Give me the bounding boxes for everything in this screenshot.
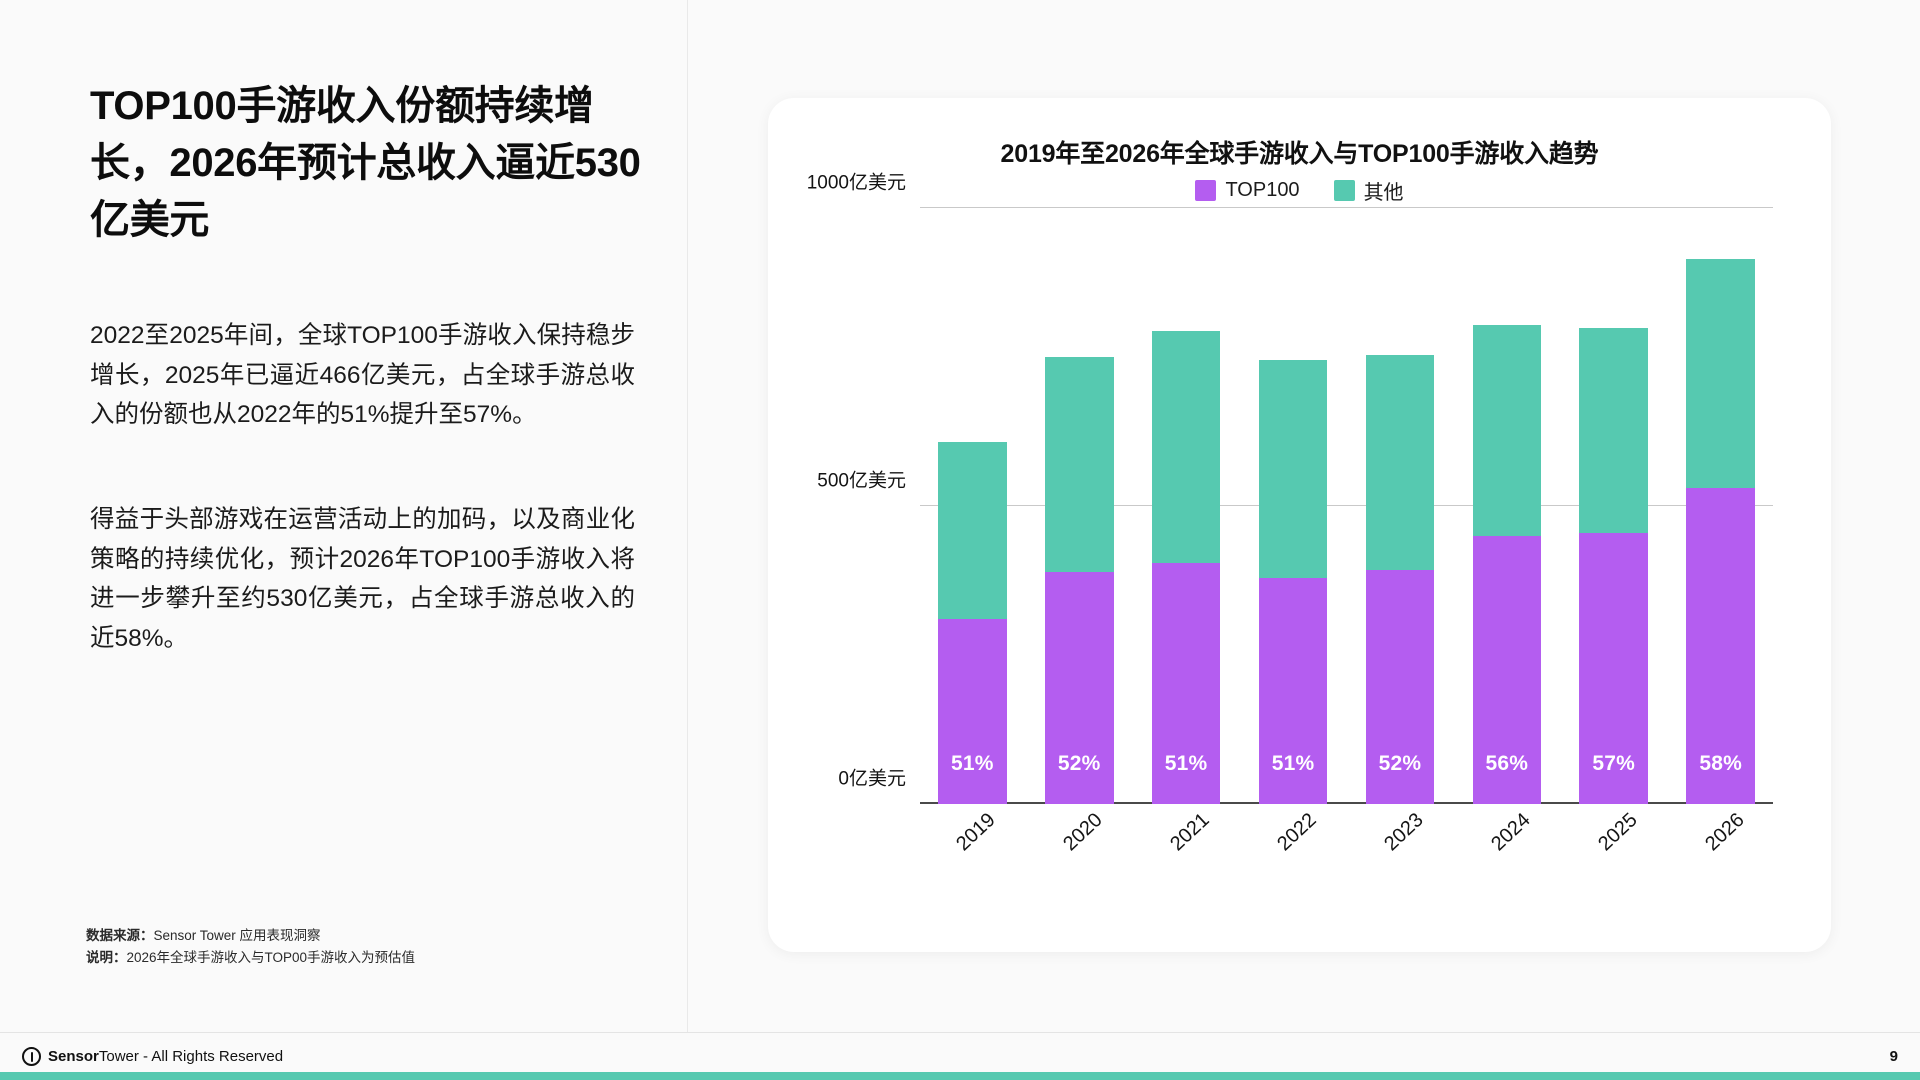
- bar-segment-top100[interactable]: 57%: [1579, 533, 1648, 804]
- bar-segment-other[interactable]: [1259, 360, 1328, 578]
- bar-segment-other[interactable]: [1473, 325, 1542, 536]
- bar-segment-other[interactable]: [1686, 259, 1755, 488]
- legend-item-其他[interactable]: 其他: [1334, 176, 1404, 205]
- body-paragraph-2: 得益于头部游戏在运营活动上的加码，以及商业化策略的持续优化，预计2026年TOP…: [90, 500, 635, 659]
- x-axis-tick-label: 2023: [1380, 809, 1428, 856]
- bar-segment-other[interactable]: [1579, 328, 1648, 532]
- bar-value-label: 51%: [1152, 752, 1221, 776]
- bar-segment-top100[interactable]: 52%: [1366, 570, 1435, 804]
- chart-card: 2019年至2026年全球手游收入与TOP100手游收入趋势 TOP100其他 …: [768, 98, 1831, 952]
- brand-name-bold: Sensor: [48, 1048, 99, 1065]
- footnote-note-value: 2026年全球手游收入与TOP00手游收入为预估值: [127, 950, 416, 965]
- bar-segment-top100[interactable]: 51%: [938, 619, 1007, 804]
- legend-label: TOP100: [1225, 179, 1299, 202]
- right-chart-pane: 2019年至2026年全球手游收入与TOP100手游收入趋势 TOP100其他 …: [688, 0, 1920, 1032]
- legend-item-TOP100[interactable]: TOP100: [1195, 179, 1299, 202]
- x-axis-tick-label: 2019: [952, 809, 1000, 856]
- slide: TOP100手游收入份额持续增长，2026年预计总收入逼近530亿美元 2022…: [0, 0, 1920, 1080]
- bar-column-2026[interactable]: 58%2026: [1686, 208, 1755, 804]
- x-axis-tick-label: 2021: [1166, 809, 1214, 856]
- bar-value-label: 51%: [938, 752, 1007, 776]
- x-axis-tick-label: 2024: [1487, 809, 1535, 856]
- bar-group: 51%201952%202051%202151%202252%202356%20…: [920, 208, 1773, 804]
- footnote-source: 数据来源：Sensor Tower 应用表现洞察: [86, 925, 646, 947]
- bar-segment-top100[interactable]: 52%: [1045, 572, 1114, 804]
- brand-logo: SensorTower - All Rights Reserved: [22, 1047, 283, 1066]
- y-axis-tick-label: 0亿美元: [838, 764, 906, 791]
- footnote-note-label: 说明：: [86, 950, 127, 965]
- bar-value-label: 52%: [1045, 752, 1114, 776]
- bar-column-2022[interactable]: 51%2022: [1259, 208, 1328, 804]
- footnotes: 数据来源：Sensor Tower 应用表现洞察 说明：2026年全球手游收入与…: [86, 925, 646, 969]
- chart-legend: TOP100其他: [768, 176, 1831, 205]
- bar-column-2021[interactable]: 51%2021: [1152, 208, 1221, 804]
- page-title: TOP100手游收入份额持续增长，2026年预计总收入逼近530亿美元: [90, 78, 650, 248]
- bar-column-2024[interactable]: 56%2024: [1473, 208, 1542, 804]
- bar-segment-top100[interactable]: 51%: [1259, 578, 1328, 804]
- body-paragraph-1: 2022至2025年间，全球TOP100手游收入保持稳步增长，2025年已逼近4…: [90, 316, 635, 435]
- rights-text: - All Rights Reserved: [139, 1048, 283, 1065]
- legend-label: 其他: [1364, 176, 1404, 205]
- bar-segment-top100[interactable]: 51%: [1152, 563, 1221, 804]
- footer-text: SensorTower - All Rights Reserved: [48, 1048, 283, 1065]
- bar-segment-other[interactable]: [1045, 357, 1114, 572]
- page-number: 9: [1890, 1048, 1898, 1065]
- bar-value-label: 51%: [1259, 752, 1328, 776]
- x-axis-tick-label: 2022: [1273, 809, 1321, 856]
- bar-segment-top100[interactable]: 56%: [1473, 536, 1542, 804]
- bar-value-label: 58%: [1686, 752, 1755, 776]
- footnote-source-value: Sensor Tower 应用表现洞察: [154, 928, 321, 943]
- bar-segment-other[interactable]: [1152, 331, 1221, 563]
- legend-swatch-icon: [1334, 180, 1355, 201]
- sensortower-logo-icon: [22, 1047, 41, 1066]
- left-content-pane: TOP100手游收入份额持续增长，2026年预计总收入逼近530亿美元 2022…: [0, 0, 688, 1032]
- bar-value-label: 52%: [1366, 752, 1435, 776]
- y-axis-tick-label: 1000亿美元: [807, 168, 906, 195]
- bar-column-2025[interactable]: 57%2025: [1579, 208, 1648, 804]
- bar-column-2019[interactable]: 51%2019: [938, 208, 1007, 804]
- footnote-note: 说明：2026年全球手游收入与TOP00手游收入为预估值: [86, 947, 646, 969]
- plot-area: 0亿美元500亿美元1000亿美元51%201952%202051%202151…: [920, 208, 1773, 804]
- accent-strip: [0, 1072, 1920, 1080]
- chart-title: 2019年至2026年全球手游收入与TOP100手游收入趋势: [768, 134, 1831, 170]
- legend-swatch-icon: [1195, 180, 1216, 201]
- y-axis-tick-label: 500亿美元: [817, 466, 906, 493]
- bar-segment-other[interactable]: [938, 442, 1007, 620]
- brand-name-light: Tower: [99, 1048, 139, 1065]
- bar-value-label: 57%: [1579, 752, 1648, 776]
- plot: 0亿美元500亿美元1000亿美元51%201952%202051%202151…: [920, 208, 1773, 804]
- bar-value-label: 56%: [1473, 752, 1542, 776]
- footnote-source-label: 数据来源：: [86, 928, 154, 943]
- x-axis-tick-label: 2026: [1701, 809, 1749, 856]
- bar-segment-top100[interactable]: 58%: [1686, 488, 1755, 804]
- bar-segment-other[interactable]: [1366, 355, 1435, 571]
- x-axis-tick-label: 2025: [1594, 809, 1642, 856]
- x-axis-tick-label: 2020: [1059, 809, 1107, 856]
- bar-column-2020[interactable]: 52%2020: [1045, 208, 1114, 804]
- bar-column-2023[interactable]: 52%2023: [1366, 208, 1435, 804]
- slide-body: TOP100手游收入份额持续增长，2026年预计总收入逼近530亿美元 2022…: [0, 0, 1920, 1032]
